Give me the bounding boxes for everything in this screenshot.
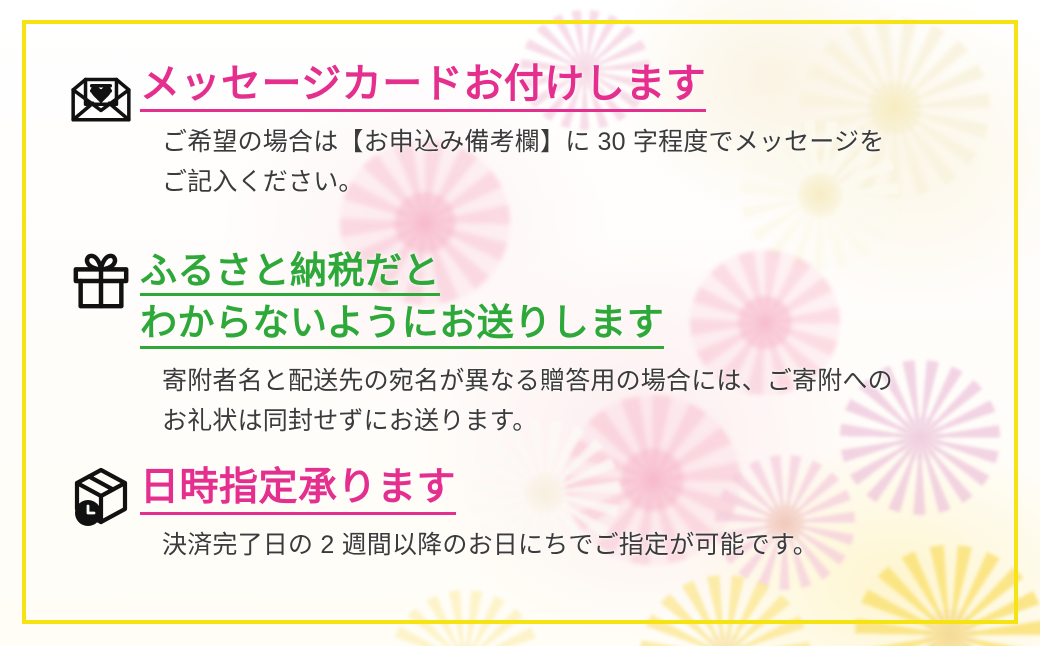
section-body-message-card: ご希望の場合は【お申込み備考欄】に 30 字程度でメッセージを ご記入ください。 (140, 122, 1012, 203)
heading-row: ふるさと納税だと (140, 250, 1012, 296)
body-line: ご記入ください。 (162, 162, 1012, 203)
section-delivery-date: 日時指定承ります 決済完了日の 2 週間以降のお日にちでご指定が可能です。 (62, 466, 1012, 565)
section-body-delivery-date: 決済完了日の 2 週間以降のお日にちでご指定が可能です。 (140, 525, 1012, 566)
body-line: 決済完了日の 2 週間以降のお日にちでご指定が可能です。 (162, 525, 1012, 566)
heading-row: わからないようにお送りします (140, 302, 1012, 348)
content-area: メッセージカードお付けします ご希望の場合は【お申込み備考欄】に 30 字程度で… (0, 0, 1040, 646)
section-heading-discreet-line1: ふるさと納税だと (140, 250, 440, 296)
heading-row: 日時指定承ります (140, 466, 1012, 515)
promo-banner: メッセージカードお付けします ご希望の場合は【お申込み備考欄】に 30 字程度で… (0, 0, 1040, 646)
body-line: お礼状は同封せずにお送ります。 (162, 401, 1012, 442)
envelope-heart-icon (62, 62, 140, 128)
gift-box-icon (62, 250, 140, 312)
section-message-card: メッセージカードお付けします ご希望の場合は【お申込み備考欄】に 30 字程度で… (62, 62, 1012, 203)
section-heading-discreet-line2: わからないようにお送りします (140, 302, 664, 348)
section-heading-delivery-date: 日時指定承ります (140, 466, 456, 515)
section-message-card-text: メッセージカードお付けします ご希望の場合は【お申込み備考欄】に 30 字程度で… (140, 62, 1012, 203)
section-body-discreet-shipping: 寄附者名と配送先の宛名が異なる贈答用の場合には、ご寄附への お礼状は同封せずにお… (140, 361, 1012, 442)
package-clock-icon (62, 466, 140, 530)
section-discreet-shipping-text: ふるさと納税だと わからないようにお送りします 寄附者名と配送先の宛名が異なる贈… (140, 250, 1012, 442)
section-discreet-shipping: ふるさと納税だと わからないようにお送りします 寄附者名と配送先の宛名が異なる贈… (62, 250, 1012, 442)
section-heading-message-card: メッセージカードお付けします (140, 62, 706, 112)
body-line: 寄附者名と配送先の宛名が異なる贈答用の場合には、ご寄附への (162, 361, 1012, 402)
heading-row: メッセージカードお付けします (140, 62, 1012, 112)
body-line: ご希望の場合は【お申込み備考欄】に 30 字程度でメッセージを (162, 122, 1012, 163)
section-delivery-date-text: 日時指定承ります 決済完了日の 2 週間以降のお日にちでご指定が可能です。 (140, 466, 1012, 565)
